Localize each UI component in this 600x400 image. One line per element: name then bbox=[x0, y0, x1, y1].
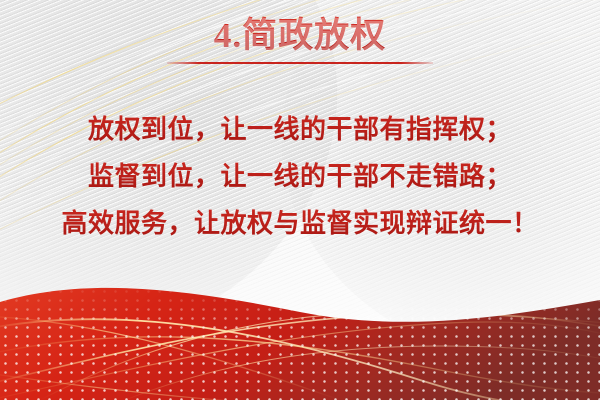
wave-dot-pattern bbox=[0, 260, 600, 400]
title-underline-rule bbox=[167, 62, 433, 64]
body-line-1: 放权到位，让一线的干部有指挥权； bbox=[0, 106, 600, 153]
slide-canvas: 4.简政放权 放权到位，让一线的干部有指挥权； 监督到位，让一线的干部不走错路；… bbox=[0, 0, 600, 400]
body-line-2: 监督到位，让一线的干部不走错路； bbox=[0, 153, 600, 200]
red-wave-graphic bbox=[0, 260, 600, 400]
title-block: 4.简政放权 bbox=[0, 16, 600, 64]
body-text-block: 放权到位，让一线的干部有指挥权； 监督到位，让一线的干部不走错路； 高效服务，让… bbox=[0, 106, 600, 247]
page-title: 4.简政放权 bbox=[214, 16, 386, 56]
body-line-3: 高效服务，让放权与监督实现辩证统一！ bbox=[0, 200, 600, 247]
